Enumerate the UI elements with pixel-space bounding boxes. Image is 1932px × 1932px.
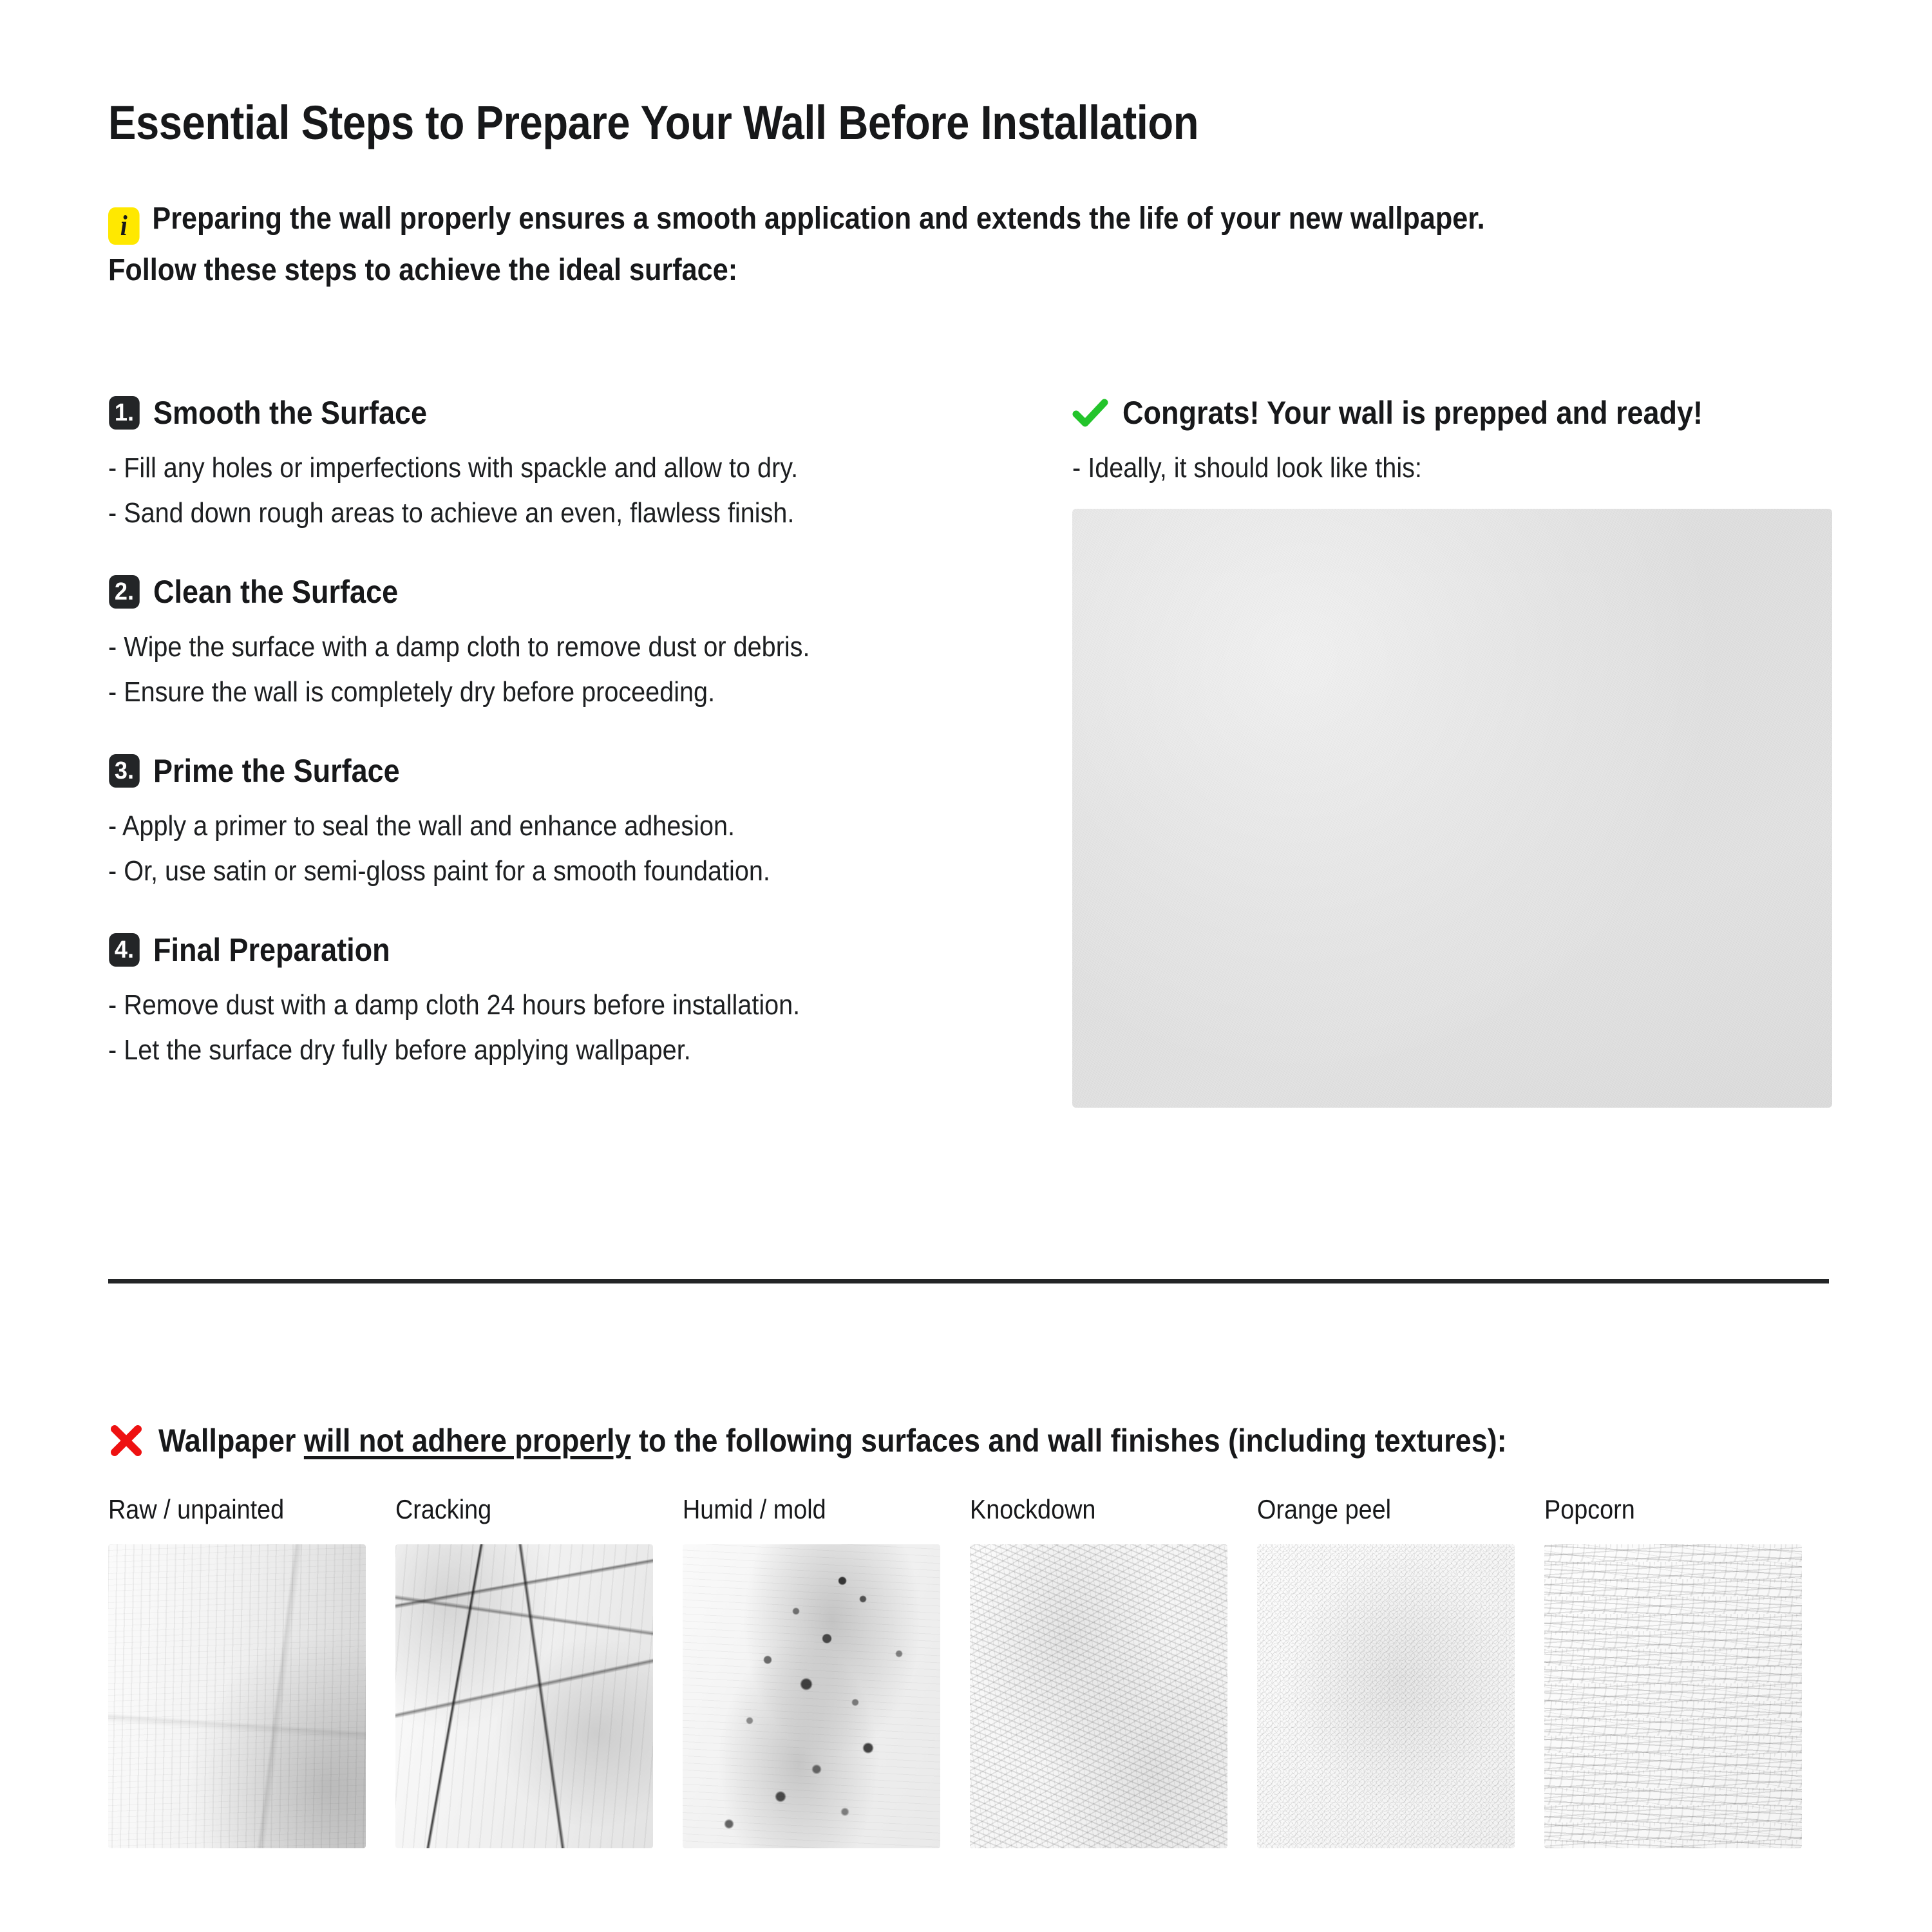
texture-cell-knockdown: Knockdown xyxy=(970,1494,1257,1848)
congrats-column: Congrats! Your wall is prepped and ready… xyxy=(1072,394,1832,1108)
step-1-line-2: - Sand down rough areas to achieve an ev… xyxy=(108,491,920,536)
congrats-subtext: - Ideally, it should look like this: xyxy=(1072,446,1756,491)
texture-image-raw xyxy=(108,1544,366,1848)
warning-text-underlined: will not adhere properly xyxy=(304,1423,631,1459)
step-4-header: 4. Final Preparation xyxy=(108,931,1010,969)
step-1-line-1: - Fill any holes or imperfections with s… xyxy=(108,446,920,491)
info-icon: i xyxy=(108,207,140,245)
texture-label-knockdown: Knockdown xyxy=(970,1494,1228,1530)
wall-prep-infographic: Essential Steps to Prepare Your Wall Bef… xyxy=(0,0,1932,1932)
page-title: Essential Steps to Prepare Your Wall Bef… xyxy=(108,95,1198,150)
step-1-number-badge: 1. xyxy=(109,396,140,430)
texture-cell-humid-mold: Humid / mold xyxy=(683,1494,970,1848)
texture-label-humid-mold: Humid / mold xyxy=(683,1494,941,1530)
texture-label-orange-peel: Orange peel xyxy=(1257,1494,1515,1530)
texture-cell-cracking: Cracking xyxy=(395,1494,683,1848)
texture-cell-popcorn: Popcorn xyxy=(1544,1494,1832,1848)
step-4: 4. Final Preparation - Remove dust with … xyxy=(108,931,1010,1073)
step-1-header: 1. Smooth the Surface xyxy=(108,394,1010,431)
step-4-number-badge: 4. xyxy=(109,933,140,967)
x-mark-icon xyxy=(108,1423,144,1459)
bad-surface-gallery: Raw / unpainted Cracking Humid / mold Kn… xyxy=(108,1494,1834,1848)
congrats-heading: Congrats! Your wall is prepped and ready… xyxy=(1122,394,1703,431)
texture-cell-orange-peel: Orange peel xyxy=(1257,1494,1544,1848)
step-4-line-1: - Remove dust with a damp cloth 24 hours… xyxy=(108,983,920,1028)
step-2-title: Clean the Surface xyxy=(153,573,398,611)
texture-label-cracking: Cracking xyxy=(395,1494,654,1530)
congrats-header: Congrats! Your wall is prepped and ready… xyxy=(1072,394,1832,431)
steps-column: 1. Smooth the Surface - Fill any holes o… xyxy=(108,394,1010,1073)
step-1-body: - Fill any holes or imperfections with s… xyxy=(108,446,920,536)
step-4-body: - Remove dust with a damp cloth 24 hours… xyxy=(108,983,920,1073)
warning-text-after: to the following surfaces and wall finis… xyxy=(630,1423,1506,1459)
step-2-header: 2. Clean the Surface xyxy=(108,573,1010,611)
texture-image-popcorn xyxy=(1544,1544,1802,1848)
step-1-title: Smooth the Surface xyxy=(153,394,427,431)
step-4-line-2: - Let the surface dry fully before apply… xyxy=(108,1028,920,1073)
step-2-line-1: - Wipe the surface with a damp cloth to … xyxy=(108,625,920,670)
step-1: 1. Smooth the Surface - Fill any holes o… xyxy=(108,394,1010,536)
texture-image-knockdown xyxy=(970,1544,1227,1848)
intro-line-2: Follow these steps to achieve the ideal … xyxy=(108,253,737,287)
step-2-body: - Wipe the surface with a damp cloth to … xyxy=(108,625,920,715)
step-3-body: - Apply a primer to seal the wall and en… xyxy=(108,804,920,894)
step-3: 3. Prime the Surface - Apply a primer to… xyxy=(108,752,1010,894)
step-3-line-1: - Apply a primer to seal the wall and en… xyxy=(108,804,920,849)
intro-paragraph: iPreparing the wall properly ensures a s… xyxy=(108,193,1662,296)
section-divider xyxy=(108,1279,1829,1283)
check-icon xyxy=(1072,395,1108,431)
step-3-number-badge: 3. xyxy=(109,754,140,788)
step-3-header: 3. Prime the Surface xyxy=(108,752,1010,790)
step-2-number-badge: 2. xyxy=(109,575,140,609)
ideal-wall-image xyxy=(1072,509,1832,1108)
warning-header: Wallpaper will not adhere properly to th… xyxy=(108,1422,1656,1459)
step-3-title: Prime the Surface xyxy=(153,752,400,790)
texture-image-cracking xyxy=(395,1544,653,1848)
texture-image-humid-mold xyxy=(683,1544,940,1848)
step-2: 2. Clean the Surface - Wipe the surface … xyxy=(108,573,1010,715)
texture-label-raw: Raw / unpainted xyxy=(108,1494,366,1530)
step-3-line-2: - Or, use satin or semi-gloss paint for … xyxy=(108,849,920,894)
texture-cell-raw: Raw / unpainted xyxy=(108,1494,395,1848)
step-2-line-2: - Ensure the wall is completely dry befo… xyxy=(108,670,920,715)
intro-line-1: Preparing the wall properly ensures a sm… xyxy=(152,202,1484,236)
warning-text: Wallpaper will not adhere properly to th… xyxy=(158,1422,1507,1459)
texture-label-popcorn: Popcorn xyxy=(1544,1494,1803,1530)
warning-text-before: Wallpaper xyxy=(158,1423,304,1459)
texture-image-orange-peel xyxy=(1257,1544,1515,1848)
step-4-title: Final Preparation xyxy=(153,931,390,969)
